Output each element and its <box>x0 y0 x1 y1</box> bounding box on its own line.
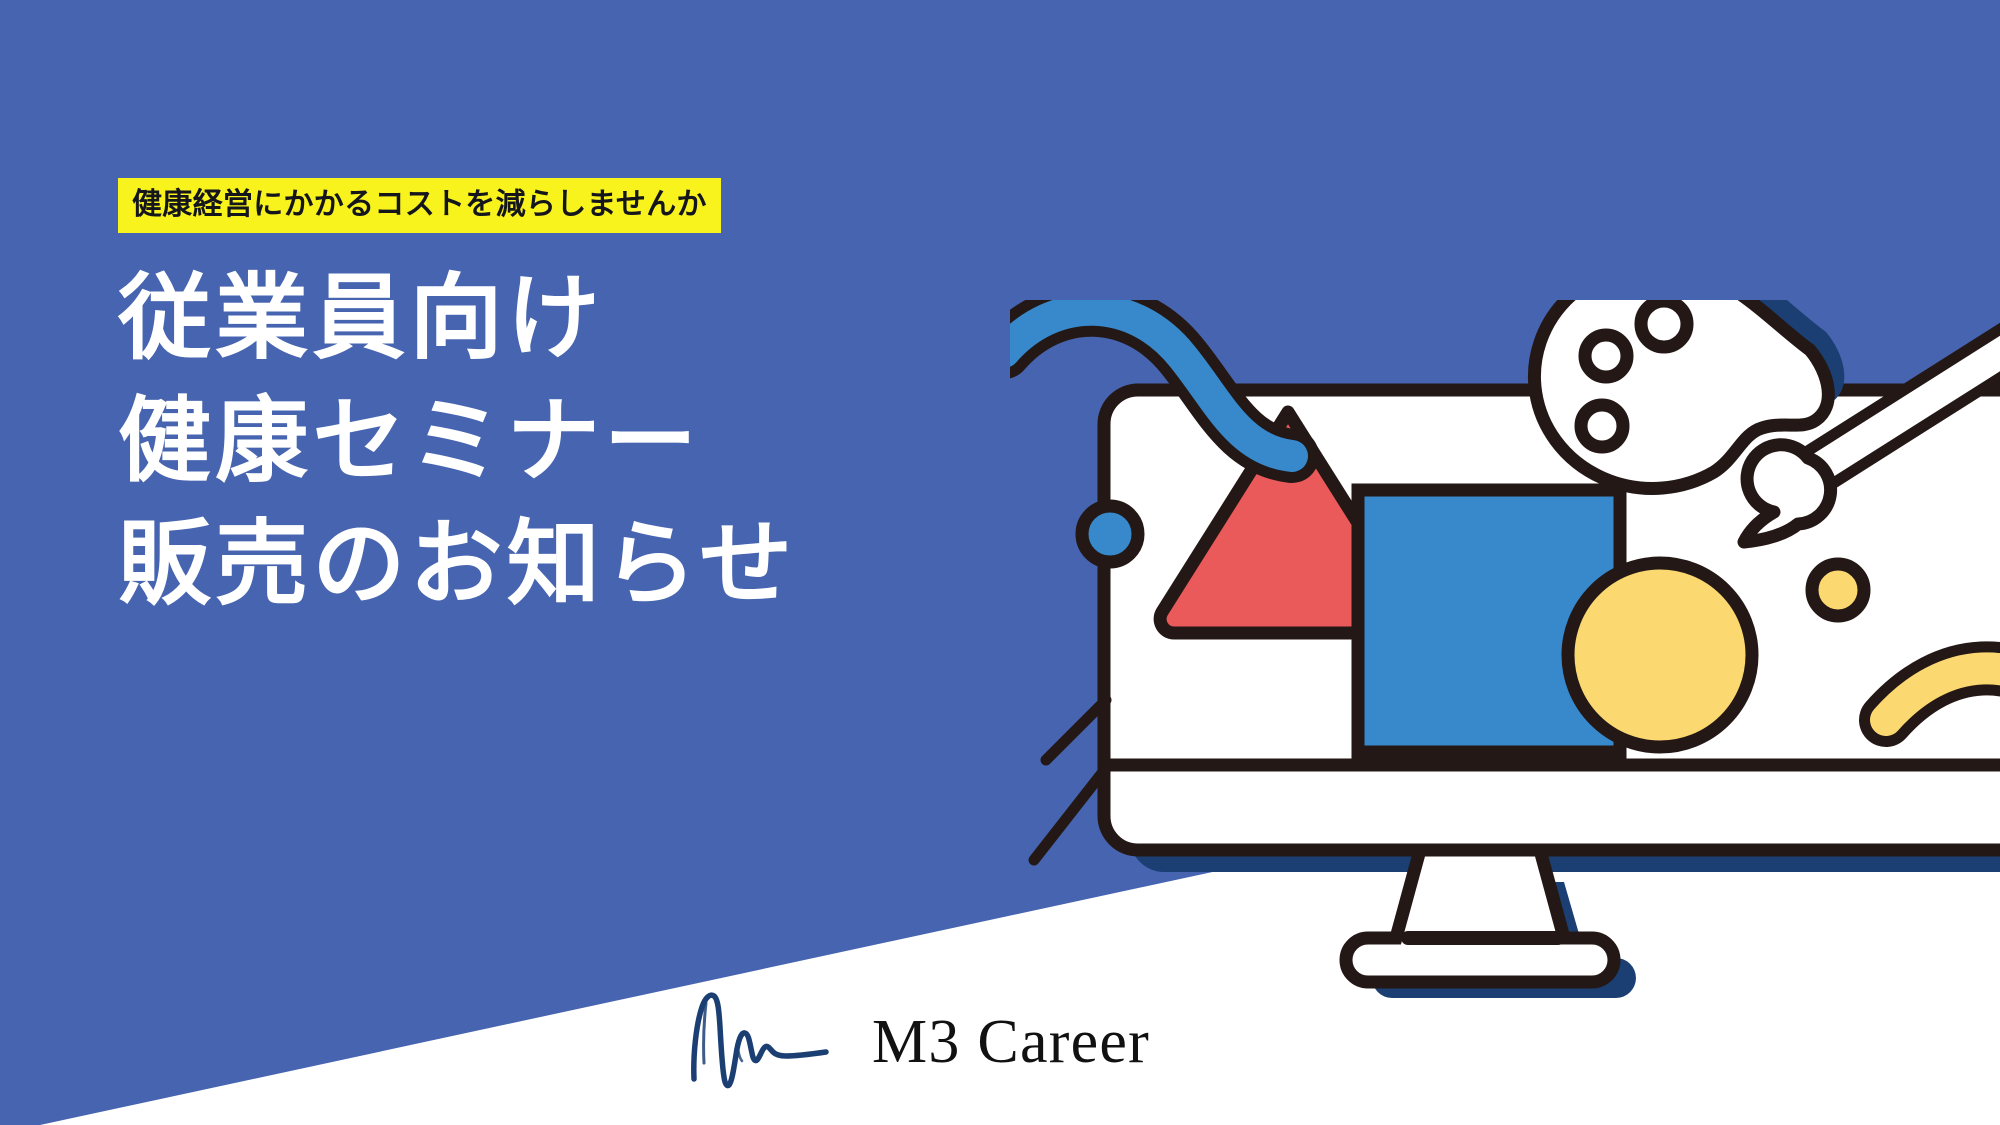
easel-legs <box>1034 700 1106 860</box>
yellow-circle <box>1568 563 1752 747</box>
page-title: 従業員向け 健康セミナー 販売のお知らせ <box>118 257 1078 625</box>
small-blue-dot <box>1082 506 1138 562</box>
small-yellow-dot <box>1812 564 1864 616</box>
hero-illustration <box>1010 300 2000 1125</box>
m3-scribble-mark-icon <box>676 983 846 1101</box>
slide-canvas: 健康経営にかかるコストを減らしませんか 従業員向け 健康セミナー 販売のお知らせ… <box>0 0 2000 1125</box>
headline-block: 健康経営にかかるコストを減らしませんか 従業員向け 健康セミナー 販売のお知らせ <box>118 178 1078 625</box>
eyebrow-banner: 健康経営にかかるコストを減らしませんか <box>118 178 721 233</box>
